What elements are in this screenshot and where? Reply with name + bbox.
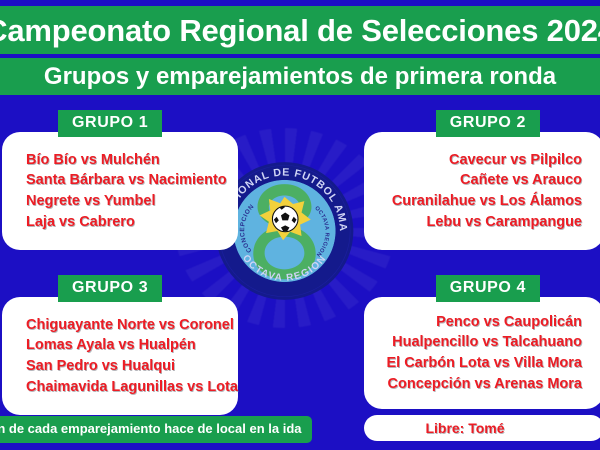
bye-label: Libre: Tomé	[425, 421, 504, 435]
poster-root: Campeonato Regional de Selecciones 2024 …	[0, 0, 600, 450]
page-subtitle: Grupos y emparejamientos de primera rond…	[44, 65, 556, 89]
footer-note: La primera asociación de cada emparejami…	[0, 416, 312, 443]
match-row: Negrete vs Yumbel	[8, 191, 232, 212]
match-row: Laja vs Cabrero	[8, 212, 232, 233]
group-4-bye-pill: Libre: Tomé	[364, 415, 600, 441]
match-row: Chiguayante Norte vs Coronel	[8, 315, 232, 336]
match-row: El Carbón Lota vs Villa Mora	[370, 353, 598, 374]
match-row: Lebu vs Carampangue	[370, 212, 598, 233]
match-row: Chaimavida Lagunillas vs Lota	[8, 377, 232, 398]
group-1-card: Bío Bío vs Mulchén Santa Bárbara vs Naci…	[2, 132, 238, 250]
match-row: Lomas Ayala vs Hualpén	[8, 335, 232, 356]
match-row: Bío Bío vs Mulchén	[8, 150, 232, 171]
header-band: Campeonato Regional de Selecciones 2024	[0, 6, 600, 54]
subheader-band: Grupos y emparejamientos de primera rond…	[0, 58, 600, 95]
match-row: Penco vs Caupolicán	[370, 312, 598, 333]
group-2-card: Cavecur vs Pilpilco Cañete vs Arauco Cur…	[364, 132, 600, 250]
match-row: Cañete vs Arauco	[370, 170, 598, 191]
match-row: Hualpencillo vs Talcahuano	[370, 332, 598, 353]
match-row: Curanilahue vs Los Álamos	[370, 191, 598, 212]
page-title: Campeonato Regional de Selecciones 2024	[0, 15, 600, 46]
group-3-card: Chiguayante Norte vs Coronel Lomas Ayala…	[2, 297, 238, 415]
footer-note-label: La primera asociación de cada emparejami…	[0, 421, 302, 436]
match-row: Concepción vs Arenas Mora	[370, 374, 598, 395]
group-4-badge: GRUPO 4	[436, 275, 540, 302]
header-divider-bottom	[0, 95, 600, 99]
group-1-badge: GRUPO 1	[58, 110, 162, 137]
group-3-badge: GRUPO 3	[58, 275, 162, 302]
group-2-badge: GRUPO 2	[436, 110, 540, 137]
match-row: Cavecur vs Pilpilco	[370, 150, 598, 171]
match-row: Santa Bárbara vs Nacimiento	[8, 170, 232, 191]
group-4-card: Penco vs Caupolicán Hualpencillo vs Talc…	[364, 297, 600, 409]
match-row: San Pedro vs Hualqui	[8, 356, 232, 377]
